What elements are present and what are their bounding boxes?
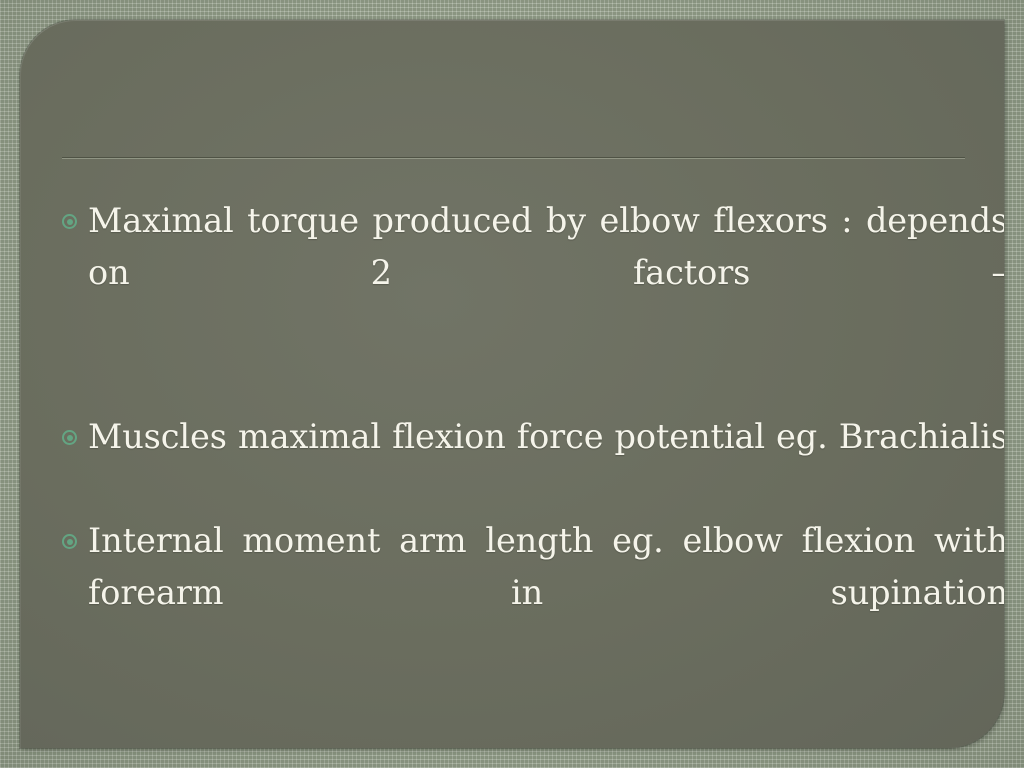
ring-bullet-icon — [62, 430, 77, 445]
rule-highlight-line — [62, 158, 965, 159]
bullet-item-1: Maximal torque produced by elbow flexors… — [62, 195, 1004, 351]
bullet-item-3-label: Internal moment arm length eg. elbow fle… — [88, 521, 1004, 612]
ring-bullet-icon — [62, 214, 77, 229]
bullet-item-1-label: Maximal torque produced by elbow flexors… — [88, 201, 1004, 292]
paragraph-spacer — [62, 351, 1004, 411]
slide-content-panel: Maximal torque produced by elbow flexors… — [20, 20, 1004, 748]
ring-bullet-icon — [62, 534, 77, 549]
bullet-item-3: Internal moment arm length eg. elbow fle… — [62, 515, 1004, 671]
bullet-item-2-label: Muscles maximal flexion force potential … — [88, 417, 1004, 456]
title-divider-rule — [62, 157, 965, 160]
slide-canvas: Maximal torque produced by elbow flexors… — [0, 0, 1024, 768]
slide-body-text: Maximal torque produced by elbow flexors… — [62, 195, 1004, 671]
bullet-item-2: Muscles maximal flexion force potential … — [62, 411, 1004, 515]
